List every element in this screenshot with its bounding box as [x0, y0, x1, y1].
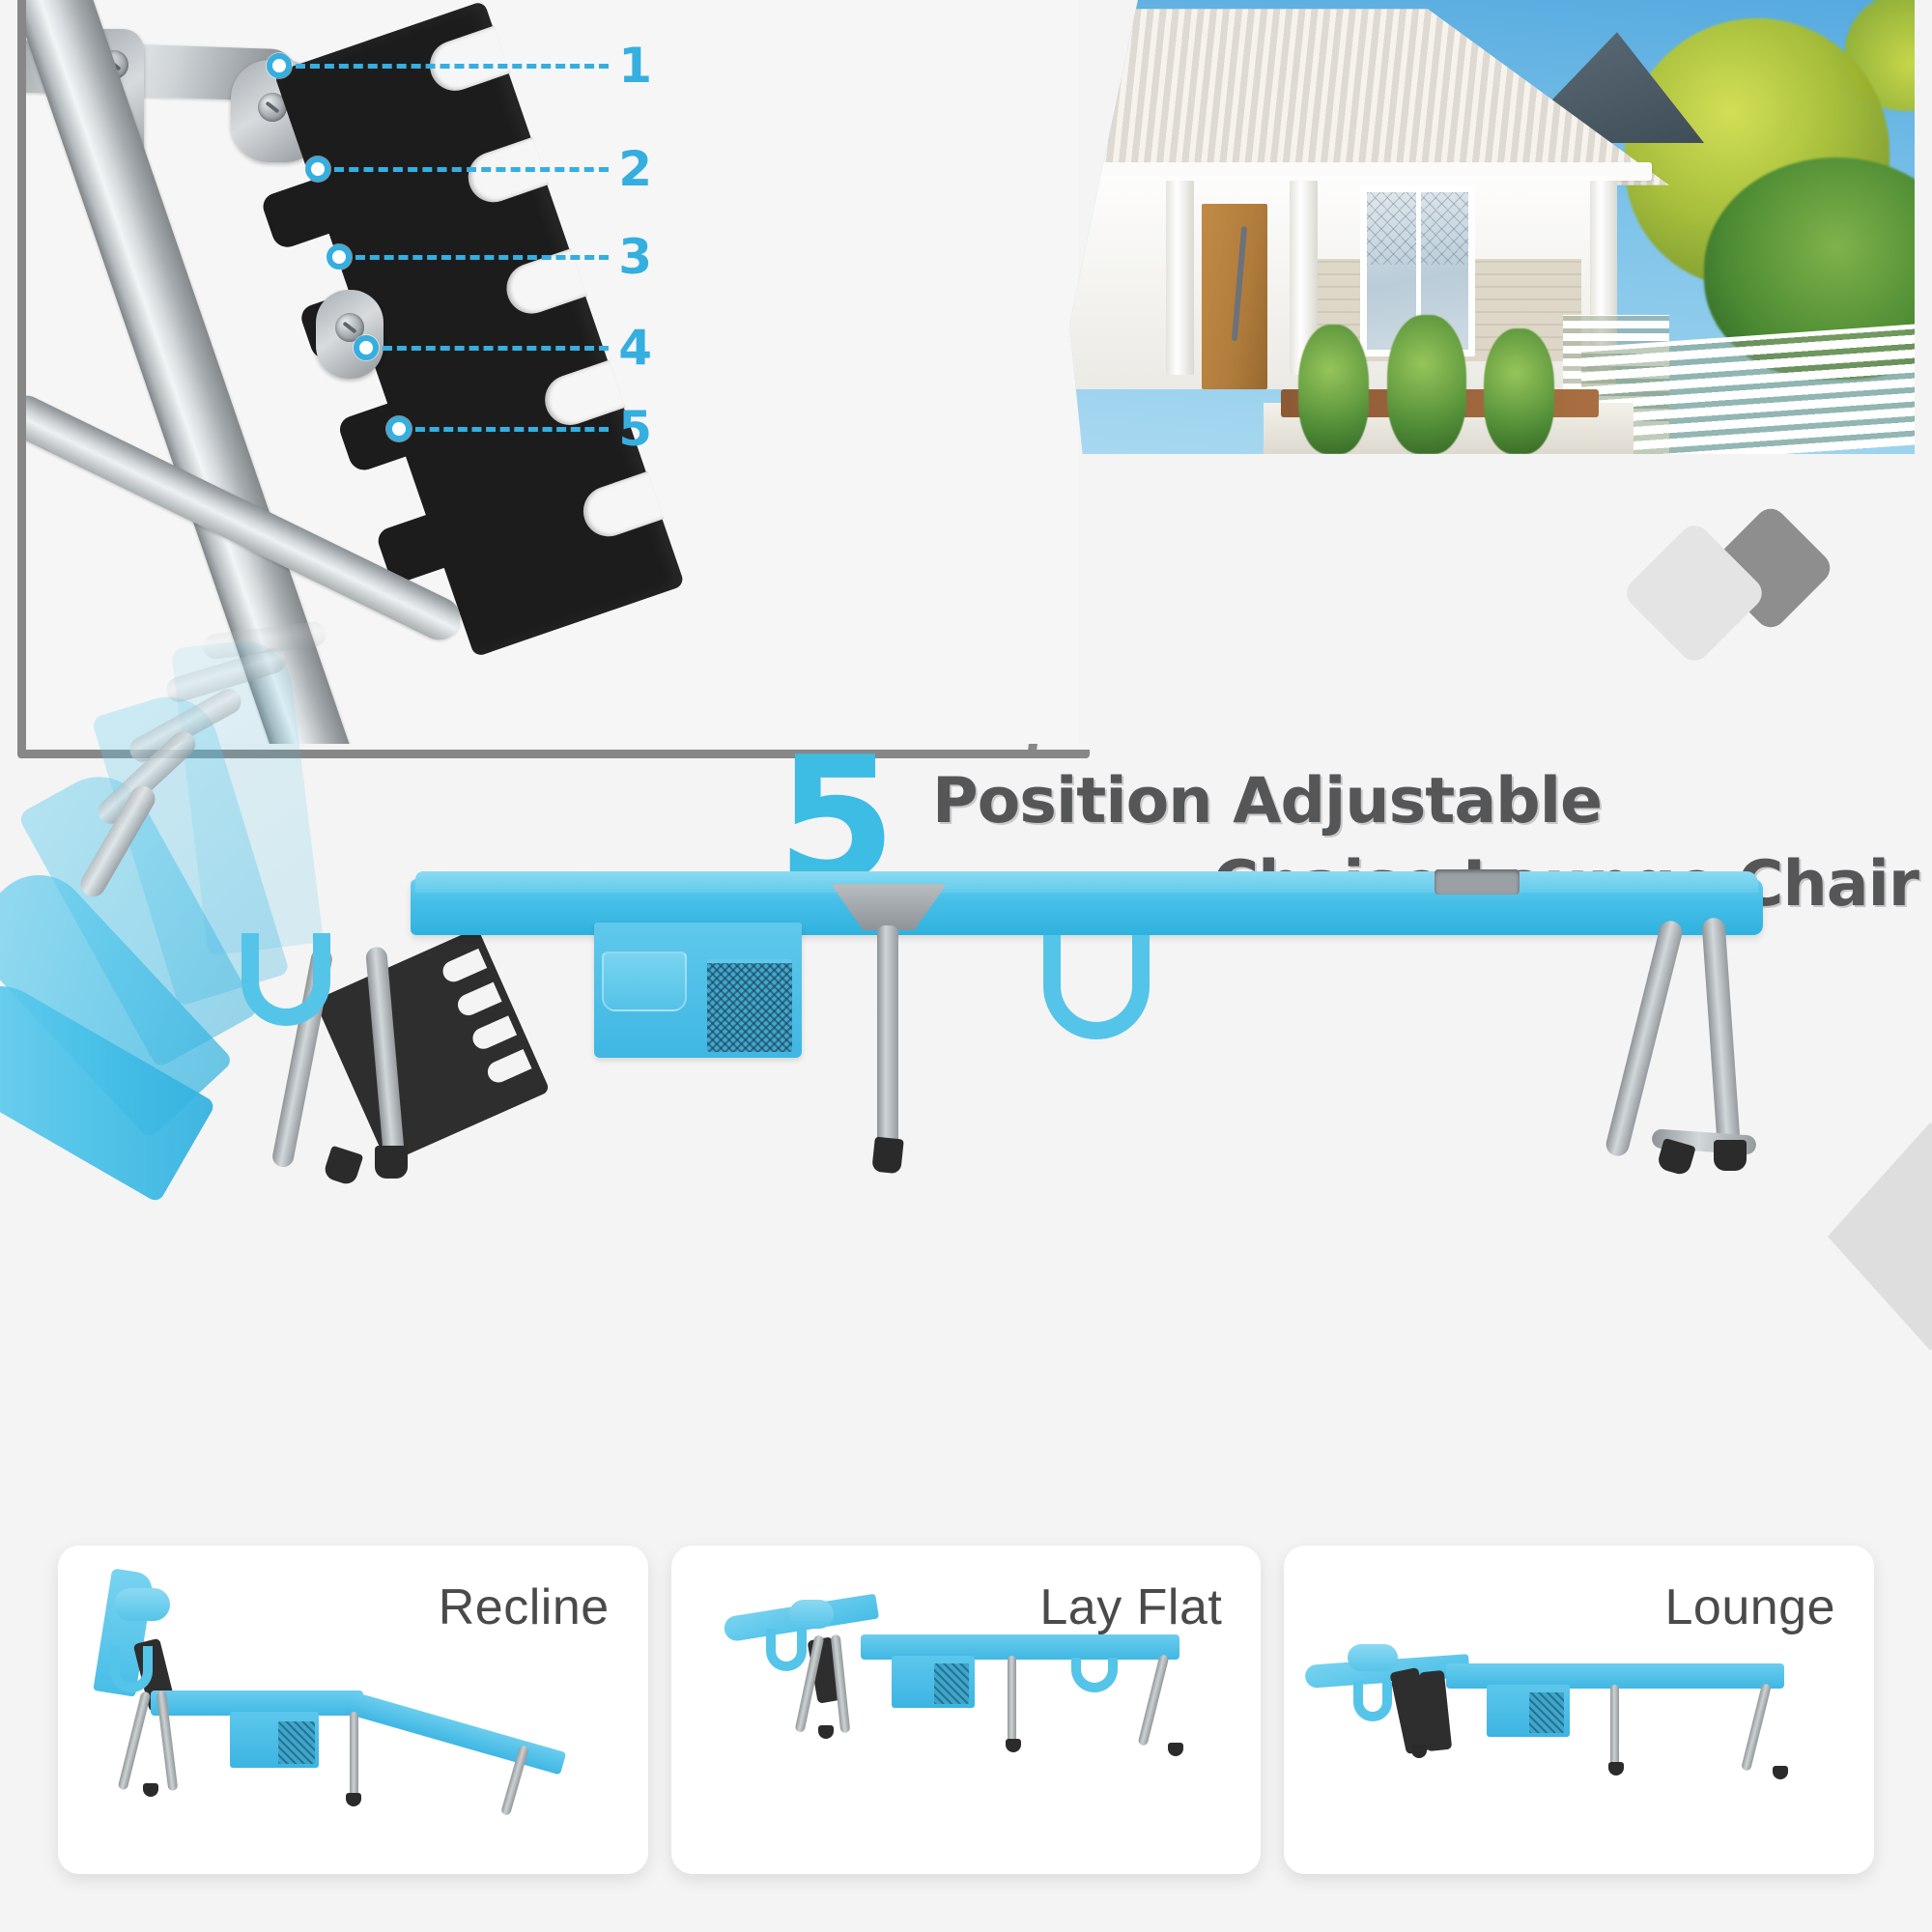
porch-column-1 — [1166, 181, 1193, 376]
flat-foot-cap-2 — [1006, 1739, 1021, 1752]
headrest-notch-3 — [469, 1015, 517, 1052]
flat-center-leg — [1008, 1656, 1016, 1745]
callout-number-5: 5 — [618, 405, 651, 453]
callout-dot-1 — [267, 53, 292, 78]
flat-carry-strap — [766, 1629, 807, 1671]
callout-number-4: 4 — [618, 324, 651, 372]
position-card-lounge[interactable]: Lounge — [1284, 1546, 1874, 1874]
notch-slot-5 — [577, 471, 665, 544]
position-card-recline[interactable]: Recline — [58, 1546, 648, 1874]
callout-line-1 — [296, 64, 609, 69]
foot-leg-outer — [1604, 919, 1685, 1158]
headrest-notch-2 — [454, 982, 501, 1019]
lounge-foot-cap-2 — [1608, 1762, 1624, 1776]
center-foot-cap — [871, 1137, 904, 1175]
garden-shrub-1 — [1298, 325, 1369, 454]
pocket-flap — [602, 952, 687, 1011]
head-foot-cap-right — [375, 1146, 408, 1179]
flat-pocket-mesh — [934, 1663, 969, 1704]
callout-line-4 — [383, 346, 609, 351]
garden-shrub-3 — [1484, 328, 1554, 454]
chair-flat-icon — [671, 1546, 1262, 1874]
center-support-leg — [877, 925, 898, 1148]
pocket-mesh-panel — [707, 959, 792, 1052]
recline-pillow — [114, 1588, 170, 1621]
front-door — [1202, 204, 1267, 389]
position-card-lay-flat[interactable]: Lay Flat — [671, 1546, 1262, 1874]
seat-fabric-top — [415, 871, 1758, 893]
callout-3: 3 — [327, 238, 651, 276]
callout-line-2 — [334, 167, 609, 172]
foot-leg-inner — [1701, 917, 1741, 1159]
chair-lounge-icon — [1284, 1546, 1874, 1874]
flat-pillow — [789, 1600, 834, 1629]
recline-carry-strap — [110, 1646, 153, 1692]
recline-head-leg-1 — [118, 1690, 152, 1790]
recline-pocket-mesh — [278, 1721, 315, 1764]
carry-strap-left — [241, 933, 330, 1026]
recline-footrest — [345, 1690, 567, 1775]
callout-dot-5 — [386, 416, 412, 441]
foot-cap-right — [1714, 1140, 1747, 1171]
lounge-carry-strap — [1353, 1681, 1392, 1721]
headrest-notch-rack — [314, 927, 550, 1163]
callout-line-5 — [415, 427, 609, 432]
carry-strap-right — [1043, 935, 1150, 1039]
callout-number-2: 2 — [618, 145, 651, 193]
lounge-pocket-mesh — [1529, 1692, 1564, 1733]
callout-4: 4 — [354, 328, 651, 367]
notch-mechanism-closeup — [26, 0, 1079, 744]
callout-5: 5 — [386, 410, 651, 448]
headrest-notch-1 — [440, 949, 487, 985]
recline-foot-cap-1 — [143, 1783, 158, 1797]
flat-foot-leg — [1137, 1654, 1169, 1747]
flat-carry-strap-2 — [1071, 1658, 1118, 1692]
flat-foot-cap-1 — [818, 1725, 834, 1739]
top-detail-panel: 1 2 3 4 5 — [17, 0, 1915, 763]
callout-dot-3 — [327, 244, 352, 270]
callout-line-3 — [355, 255, 609, 260]
headrest-notch-4 — [484, 1049, 531, 1086]
callout-dot-2 — [305, 156, 330, 182]
flat-foot-cap-3 — [1168, 1743, 1183, 1756]
lounge-foot-cap-1 — [1411, 1745, 1427, 1758]
callout-number-3: 3 — [618, 233, 651, 281]
lounge-pillow — [1348, 1644, 1398, 1671]
lounge-center-leg — [1610, 1685, 1619, 1768]
house-exterior-photo — [1069, 0, 1915, 454]
side-organizer-pocket — [594, 923, 802, 1058]
lounge-foot-leg — [1741, 1683, 1772, 1772]
position-cards: Recline Lay Flat — [58, 1546, 1874, 1874]
cup-holder-slot — [1435, 869, 1520, 895]
callout-dot-4 — [354, 335, 379, 360]
chair-recline-icon — [58, 1546, 648, 1874]
garden-shrub-2 — [1387, 315, 1466, 454]
recline-center-leg — [350, 1712, 358, 1799]
chaise-lounge-hero — [68, 763, 1884, 1372]
product-infographic: 1 2 3 4 5 — [0, 0, 1932, 1932]
lounge-foot-cap-3 — [1773, 1766, 1788, 1779]
head-foot-cap-left — [323, 1146, 364, 1187]
callout-number-1: 1 — [618, 42, 651, 90]
callout-1: 1 — [267, 46, 651, 85]
callout-2: 2 — [305, 150, 651, 188]
recline-foot-cap-2 — [346, 1793, 361, 1806]
